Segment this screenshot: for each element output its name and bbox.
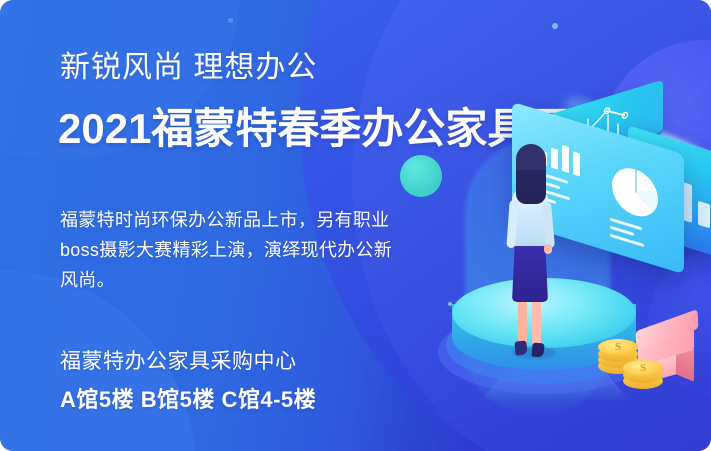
figure-hand-right <box>544 244 552 254</box>
description-line-3: 风尚。 <box>60 265 480 295</box>
pie-chart-icon <box>612 162 658 222</box>
figure-skirt <box>512 240 548 302</box>
banner-text-block: 新锐风尚 理想办公 2021福蒙特春季办公家具展 福蒙特时尚环保办公新品上市，另… <box>0 0 460 451</box>
description-line-1: 福蒙特时尚环保办公新品上市，另有职业 <box>60 205 480 235</box>
banner-description: 福蒙特时尚环保办公新品上市，另有职业 boss摄影大赛精彩上演，演绎现代办公新 … <box>60 205 480 295</box>
coin-currency-symbol: S <box>615 341 621 353</box>
coin-stack-front: S <box>623 355 667 391</box>
illustration-scene: S S <box>420 60 711 451</box>
figure-hair-top <box>516 144 546 170</box>
promo-banner: 新锐风尚 理想办公 2021福蒙特春季办公家具展 福蒙特时尚环保办公新品上市，另… <box>0 0 711 451</box>
sparkle-dot-1 <box>552 23 558 29</box>
banner-footer-halls: A馆5楼 B馆5楼 C馆4-5楼 <box>60 385 316 415</box>
banner-kicker: 新锐风尚 理想办公 <box>60 50 317 86</box>
banner-footer-title: 福蒙特办公家具采购中心 <box>60 348 297 376</box>
coin-currency-symbol-2: S <box>640 362 646 374</box>
description-line-2: boss摄影大赛精彩上演，演绎现代办公新 <box>60 235 480 265</box>
